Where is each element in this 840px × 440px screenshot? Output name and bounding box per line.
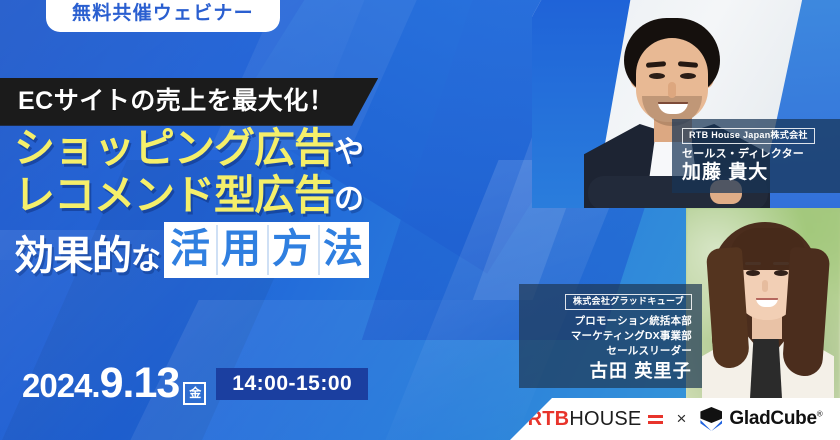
date-separator: . xyxy=(91,369,99,402)
speaker-2-brow-right xyxy=(773,262,789,265)
event-time-badge: 14:00-15:00 xyxy=(216,368,368,400)
schedule: 2024 . 9.13 金 14:00-15:00 xyxy=(22,362,368,407)
speaker-2-info: 株式会社グラッドキューブ プロモーション統括本部 マーケティングDX事業部 セー… xyxy=(519,284,702,388)
boxed-char-2: 用 xyxy=(216,225,264,275)
speaker-2-name: 古田 英里子 xyxy=(529,361,692,383)
gladcube-registered-icon: ® xyxy=(817,410,823,419)
headline-line-2: レコメンド型広告の xyxy=(14,175,369,216)
speaker-1-nose xyxy=(668,82,676,98)
headline-line-1: ショッピング広告や xyxy=(14,128,369,169)
speaker-2-company: 株式会社グラッドキューブ xyxy=(565,294,692,310)
tagline-text: ECサイトの売上を最大化！ xyxy=(0,78,378,126)
rtb-house-logo-black: HOUSE xyxy=(569,408,641,431)
speaker-1-role: セールス・ディレクター xyxy=(682,148,832,161)
boxed-char-1: 活 xyxy=(167,225,213,275)
headline-line-3: 効果的な 活 用 方 法 xyxy=(14,222,369,278)
rtb-house-logo-red: RTB xyxy=(528,408,570,431)
event-weekday: 金 xyxy=(183,382,206,405)
speaker-2-nose xyxy=(762,280,768,292)
headline-boxed-chars: 活 用 方 法 xyxy=(164,222,369,278)
free-webinar-badge: 無料共催ウェビナー xyxy=(46,0,280,32)
speaker-2-eye-right xyxy=(774,270,788,276)
headline-line-2-suffix: の xyxy=(334,183,363,216)
headline-line-3-na: な xyxy=(131,243,160,276)
gladcube-logo: GladCube® xyxy=(699,407,822,431)
speaker-2-brow-left xyxy=(745,262,761,265)
speaker-2-role-line-1: プロモーション統括本部 xyxy=(529,314,692,329)
boxed-char-4: 法 xyxy=(318,225,366,275)
speaker-1-eye-right xyxy=(680,73,696,79)
event-year: 2024 xyxy=(22,369,91,402)
speaker-2-role-line-2: マーケティングDX事業部 xyxy=(529,329,692,344)
boxed-char-3: 方 xyxy=(267,225,315,275)
speaker-2-eye-left xyxy=(746,270,760,276)
headline-line-1-suffix: や xyxy=(334,136,363,169)
headline-line-1-main: ショッピング広告 xyxy=(14,125,334,171)
tagline-ribbon: ECサイトの売上を最大化！ xyxy=(0,78,378,126)
headline: ショッピング広告や レコメンド型広告の 効果的な 活 用 方 法 xyxy=(14,128,369,278)
speaker-1-company: RTB House Japan株式会社 xyxy=(682,128,815,144)
headline-line-2-main: レコメンド型広告 xyxy=(14,172,334,218)
gladcube-cube-icon xyxy=(699,407,723,431)
logo-bar: RTB HOUSE × GladCube® xyxy=(510,398,840,440)
speaker-1-info: RTB House Japan株式会社 セールス・ディレクター 加藤 貴大 xyxy=(672,119,840,193)
webinar-banner: 無料共催ウェビナー ECサイトの売上を最大化！ ショッピング広告や レコメンド型… xyxy=(0,0,840,440)
rtb-equals-icon xyxy=(648,415,663,424)
partnership-cross-icon: × xyxy=(676,409,686,429)
event-date: 2024 . 9.13 金 xyxy=(22,362,206,407)
gladcube-logo-text: GladCube® xyxy=(729,408,822,430)
headline-line-3-plain: 効果的な xyxy=(14,236,160,278)
speaker-1-name: 加藤 貴大 xyxy=(682,162,832,184)
headline-line-3-kanji: 効果的 xyxy=(14,234,131,278)
gladcube-wordmark: GladCube xyxy=(729,408,816,429)
speaker-1-eye-left xyxy=(649,73,665,79)
rtb-house-logo: RTB HOUSE xyxy=(528,408,664,431)
speaker-2-role-line-3: セールスリーダー xyxy=(529,344,692,359)
event-month-day: 9.13 xyxy=(100,362,180,405)
